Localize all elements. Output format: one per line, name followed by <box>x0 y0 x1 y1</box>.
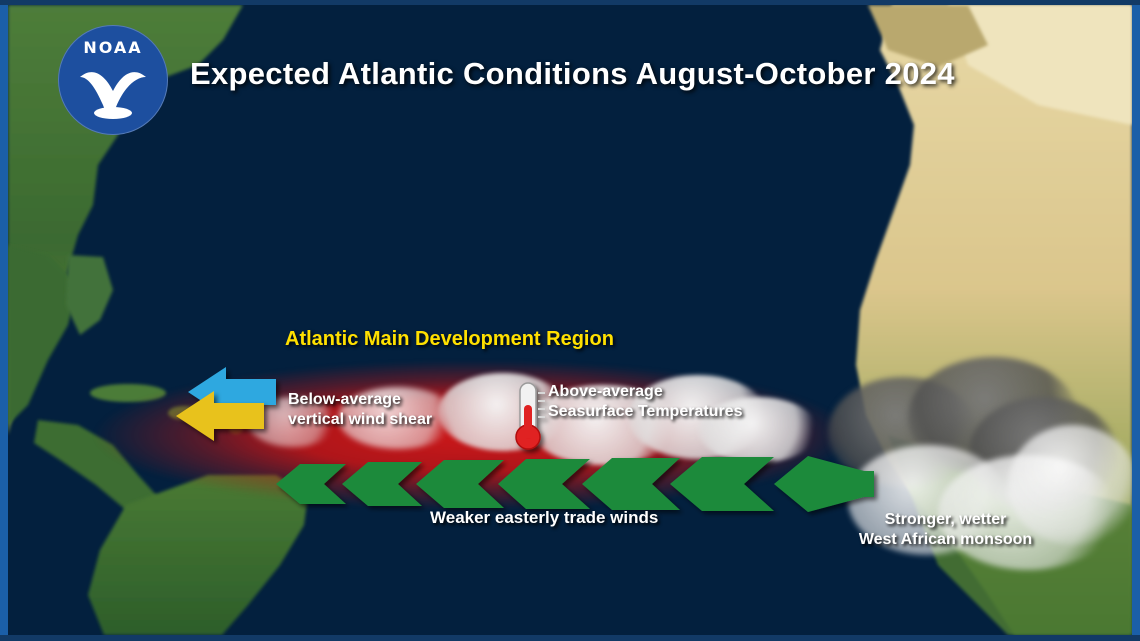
wind-shear-label: Below-average vertical wind shear <box>288 390 432 430</box>
monsoon-label: Stronger, wetter West African monsoon <box>838 510 1053 550</box>
trade-wind-arrows <box>276 456 874 512</box>
sst-label-line1: Above-average <box>548 382 742 402</box>
monsoon-label-line2: West African monsoon <box>838 530 1053 550</box>
frame-border-top <box>0 0 1140 5</box>
infographic-stage: NOAA Expected Atlantic Conditions August… <box>0 0 1140 641</box>
frame-border-right <box>1132 0 1140 641</box>
frame-border-left <box>0 0 8 641</box>
sst-label-line2: Seasurface Temperatures <box>548 402 742 422</box>
page-title: Expected Atlantic Conditions August-Octo… <box>190 56 955 92</box>
wind-shear-label-line1: Below-average <box>288 390 432 410</box>
monsoon-label-line1: Stronger, wetter <box>838 510 1053 530</box>
trade-winds-label: Weaker easterly trade winds <box>430 508 658 528</box>
wind-shear-label-line2: vertical wind shear <box>288 410 432 430</box>
noaa-seagull-icon <box>58 25 168 135</box>
sst-label: Above-average Seasurface Temperatures <box>548 382 742 422</box>
mdr-label: Atlantic Main Development Region <box>285 328 614 351</box>
noaa-logo: NOAA <box>58 25 168 135</box>
frame-border-bottom <box>0 635 1140 641</box>
thermometer-icon <box>516 383 545 449</box>
